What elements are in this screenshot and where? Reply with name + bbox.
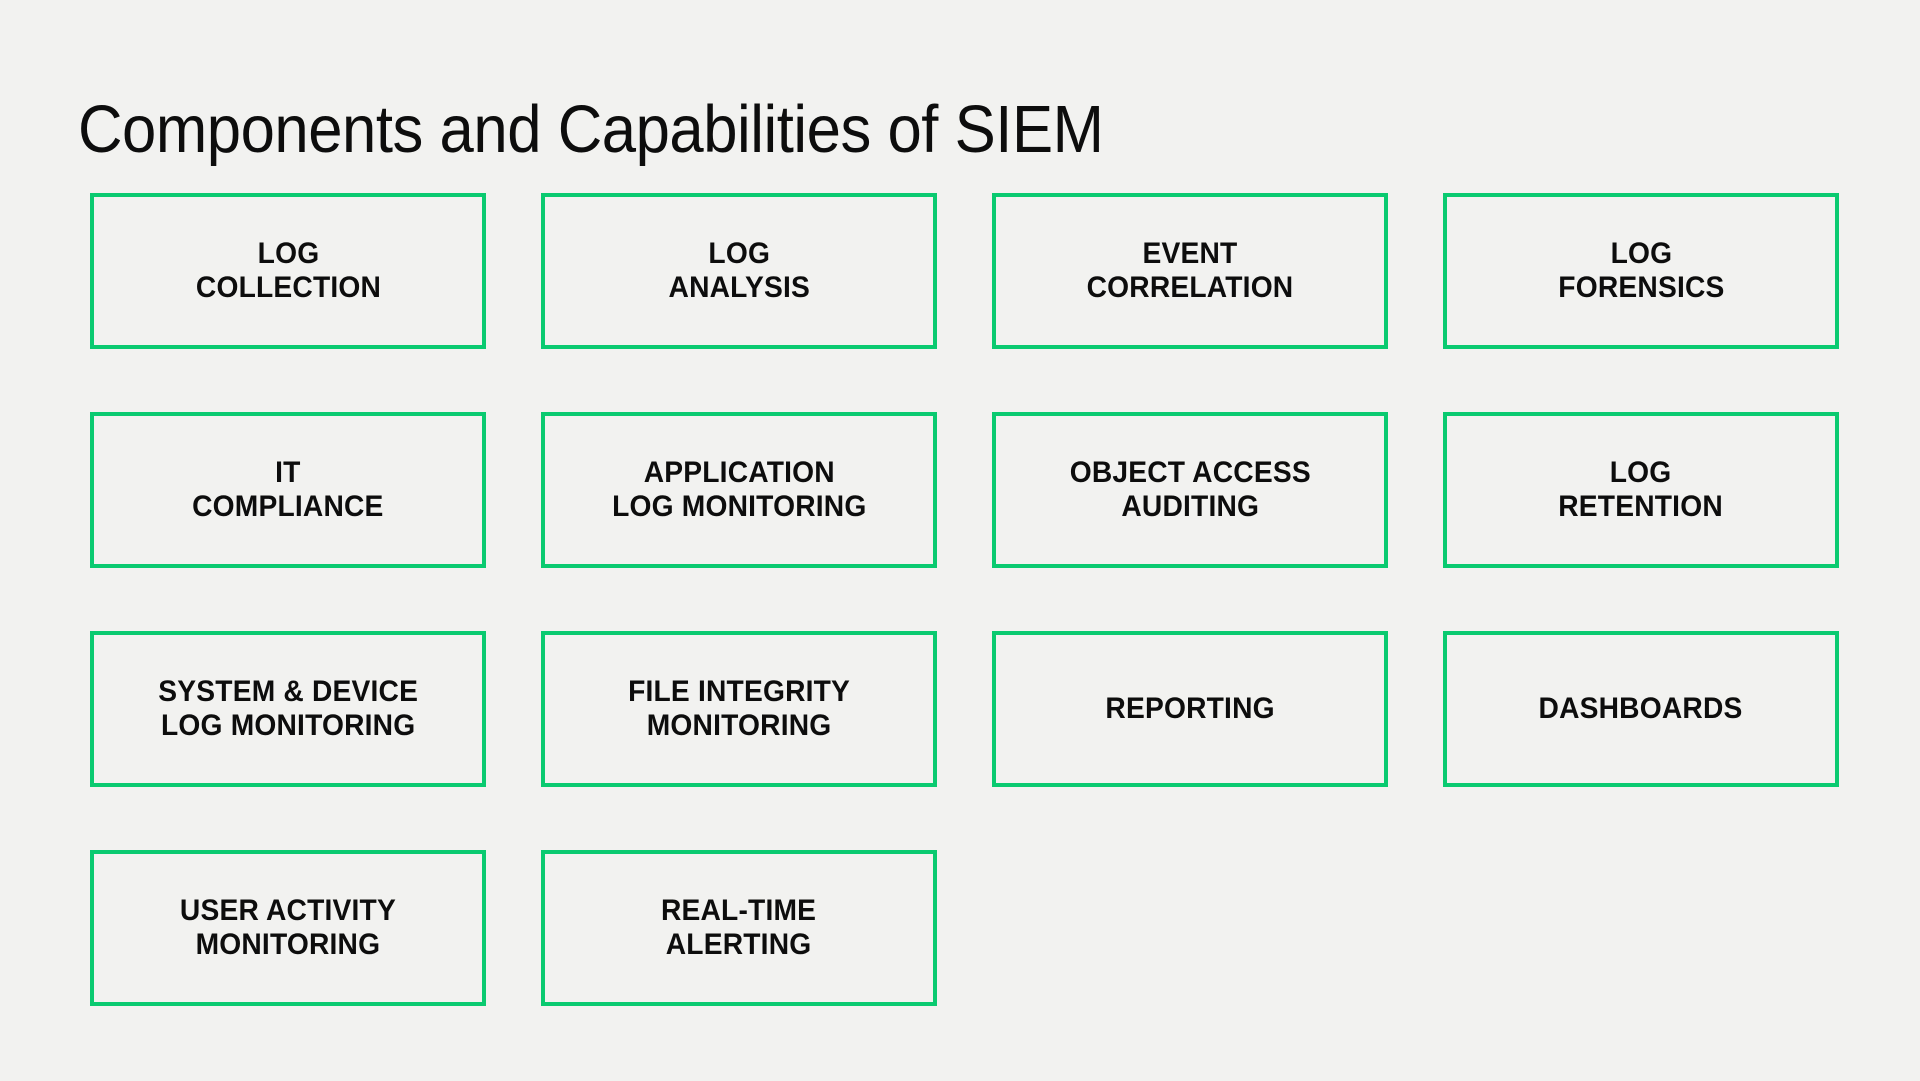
grid-empty-slot bbox=[992, 850, 1388, 1006]
capability-card-log-retention[interactable]: LOG RETENTION bbox=[1443, 412, 1839, 568]
capability-card-log-collection[interactable]: LOG COLLECTION bbox=[90, 193, 486, 349]
capability-card-dashboards[interactable]: DASHBOARDS bbox=[1443, 631, 1839, 787]
capability-card-file-integrity-monitoring[interactable]: FILE INTEGRITY MONITORING bbox=[541, 631, 937, 787]
capability-card-object-access-auditing[interactable]: OBJECT ACCESS AUDITING bbox=[992, 412, 1388, 568]
capability-card-label: IT COMPLIANCE bbox=[192, 456, 383, 523]
capability-card-label: DASHBOARDS bbox=[1539, 692, 1743, 726]
capability-card-log-forensics[interactable]: LOG FORENSICS bbox=[1443, 193, 1839, 349]
capability-card-application-log-monitoring[interactable]: APPLICATION LOG MONITORING bbox=[541, 412, 937, 568]
capability-card-real-time-alerting[interactable]: REAL-TIME ALERTING bbox=[541, 850, 937, 1006]
capability-card-log-analysis[interactable]: LOG ANALYSIS bbox=[541, 193, 937, 349]
capability-card-label: LOG ANALYSIS bbox=[668, 237, 809, 304]
capability-card-user-activity-monitoring[interactable]: USER ACTIVITY MONITORING bbox=[90, 850, 486, 1006]
capability-card-event-correlation[interactable]: EVENT CORRELATION bbox=[992, 193, 1388, 349]
capability-card-label: APPLICATION LOG MONITORING bbox=[612, 456, 866, 523]
capability-card-it-compliance[interactable]: IT COMPLIANCE bbox=[90, 412, 486, 568]
capability-card-reporting[interactable]: REPORTING bbox=[992, 631, 1388, 787]
grid-empty-slot bbox=[1443, 850, 1839, 1006]
capability-card-label: EVENT CORRELATION bbox=[1087, 237, 1294, 304]
capability-card-label: USER ACTIVITY MONITORING bbox=[180, 894, 396, 961]
capability-card-label: FILE INTEGRITY MONITORING bbox=[628, 675, 850, 742]
capability-card-label: REAL-TIME ALERTING bbox=[661, 894, 816, 961]
capabilities-grid: LOG COLLECTION LOG ANALYSIS EVENT CORREL… bbox=[90, 193, 1840, 1006]
infographic-page: Components and Capabilities of SIEM LOG … bbox=[0, 0, 1920, 1081]
capability-card-system-device-log-monitoring[interactable]: SYSTEM & DEVICE LOG MONITORING bbox=[90, 631, 486, 787]
page-title: Components and Capabilities of SIEM bbox=[78, 95, 1103, 165]
capability-card-label: REPORTING bbox=[1105, 692, 1274, 726]
capability-card-label: LOG RETENTION bbox=[1559, 456, 1724, 523]
capability-card-label: SYSTEM & DEVICE LOG MONITORING bbox=[158, 675, 418, 742]
capability-card-label: OBJECT ACCESS AUDITING bbox=[1069, 456, 1310, 523]
capability-card-label: LOG FORENSICS bbox=[1558, 237, 1724, 304]
capability-card-label: LOG COLLECTION bbox=[195, 237, 380, 304]
